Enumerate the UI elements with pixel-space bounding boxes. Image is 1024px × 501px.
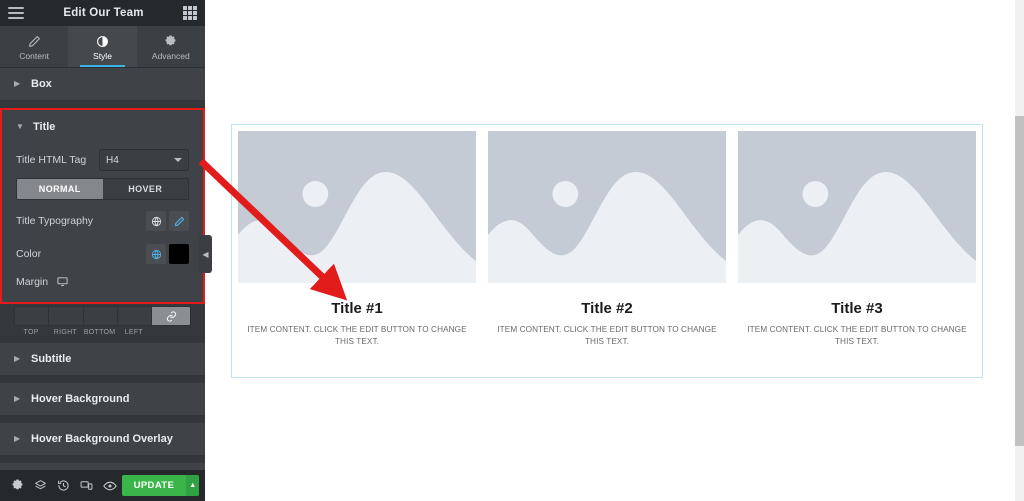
contrast-icon — [95, 34, 109, 48]
card-title: Title #1 — [238, 300, 476, 317]
tab-advanced[interactable]: Advanced — [137, 26, 205, 67]
margin-field-bottom: BOTTOM — [83, 306, 117, 336]
tab-content-label: Content — [19, 51, 49, 61]
section-subtitle-label: Subtitle — [31, 353, 71, 365]
chevron-right-icon: ▶ — [14, 80, 21, 88]
update-button[interactable]: UPDATE — [122, 480, 187, 491]
apps-grid-icon[interactable] — [183, 6, 197, 20]
row-title-margin: Margin — [16, 272, 189, 294]
link-icon[interactable] — [151, 306, 191, 326]
section-title-group: ▼ Title Title HTML Tag H4 NORMAL HOVER — [0, 108, 205, 304]
section-title[interactable]: ▼ Title — [2, 110, 203, 143]
title-html-tag-select[interactable]: H4 — [99, 149, 189, 171]
card-description: ITEM CONTENT. CLICK THE EDIT BUTTON TO C… — [238, 324, 476, 348]
section-box[interactable]: ▶ Box — [0, 68, 205, 101]
title-color-swatch[interactable] — [169, 244, 189, 264]
title-html-tag-value: H4 — [106, 155, 119, 166]
responsive-mode-icon[interactable] — [75, 470, 98, 501]
state-tab-normal[interactable]: NORMAL — [17, 179, 103, 199]
hamburger-icon[interactable] — [8, 7, 24, 19]
section-box-label: Box — [31, 78, 52, 90]
title-html-tag-label: Title HTML Tag — [16, 154, 99, 166]
margin-field-right: RIGHT — [48, 306, 82, 336]
section-hover-background[interactable]: ▶ Hover Background — [0, 383, 205, 416]
row-title-html-tag: Title HTML Tag H4 — [16, 145, 189, 175]
title-margin-label: Margin — [16, 276, 189, 290]
settings-gear-icon[interactable] — [6, 470, 29, 501]
spacer — [0, 101, 205, 108]
typography-controls — [146, 211, 189, 231]
spacer — [0, 376, 205, 383]
placeholder-mountain-image — [738, 131, 976, 283]
desktop-icon[interactable] — [57, 276, 68, 290]
card-title: Title #3 — [738, 300, 976, 317]
section-navigation[interactable]: ▶ Navigation — [0, 463, 205, 470]
caret-up-icon[interactable]: ▲ — [186, 475, 199, 496]
tab-advanced-label: Advanced — [152, 51, 190, 61]
panel-body: ▶ Box ▼ Title Title HTML Tag H4 — [0, 68, 205, 470]
section-title-label: Title — [33, 121, 55, 133]
navigator-layers-icon[interactable] — [29, 470, 52, 501]
margin-input-left[interactable] — [117, 306, 151, 326]
card-description: ITEM CONTENT. CLICK THE EDIT BUTTON TO C… — [738, 324, 976, 348]
card-title: Title #2 — [488, 300, 726, 317]
margin-caption-bottom: BOTTOM — [83, 329, 117, 336]
team-card-1[interactable]: Title #1 ITEM CONTENT. CLICK THE EDIT BU… — [232, 125, 482, 377]
panel-header: Edit Our Team — [0, 0, 205, 26]
team-card-2[interactable]: Title #2 ITEM CONTENT. CLICK THE EDIT BU… — [482, 125, 732, 377]
chevron-right-icon: ▶ — [14, 435, 21, 443]
globe-icon[interactable] — [146, 211, 166, 231]
chevron-right-icon: ▶ — [14, 355, 21, 363]
section-hover-background-overlay-label: Hover Background Overlay — [31, 433, 173, 445]
spacer — [0, 456, 205, 463]
margin-caption-right: RIGHT — [48, 329, 82, 336]
panel-tabs: Content Style Advanced — [0, 26, 205, 68]
margin-input-top[interactable] — [14, 306, 48, 326]
title-color-label: Color — [16, 248, 146, 260]
margin-input-right[interactable] — [48, 306, 82, 326]
margin-caption-top: TOP — [14, 329, 48, 336]
history-icon[interactable] — [52, 470, 75, 501]
margin-field-top: TOP — [14, 306, 48, 336]
margin-caption-left: LEFT — [117, 329, 151, 336]
gear-icon — [164, 34, 178, 48]
title-typography-label: Title Typography — [16, 215, 146, 227]
placeholder-mountain-image — [488, 131, 726, 283]
canvas-scrollbar[interactable] — [1015, 0, 1024, 501]
margin-input-bottom[interactable] — [83, 306, 117, 326]
update-button-group: UPDATE ▲ — [122, 475, 199, 496]
margin-inputs: TOP RIGHT BOTTOM LEFT — [0, 306, 205, 336]
state-tab-hover[interactable]: HOVER — [103, 179, 189, 199]
editor-panel: Edit Our Team Content Style — [0, 0, 205, 501]
color-controls — [146, 244, 189, 264]
tab-style-label: Style — [93, 51, 112, 61]
preview-eye-icon[interactable] — [98, 470, 121, 501]
margin-field-left: LEFT — [117, 306, 151, 336]
placeholder-mountain-image — [238, 131, 476, 283]
chevron-right-icon: ▶ — [14, 395, 21, 403]
team-section[interactable]: Title #1 ITEM CONTENT. CLICK THE EDIT BU… — [231, 124, 983, 378]
row-title-color: Color — [16, 239, 189, 269]
pencil-icon — [27, 34, 41, 48]
margin-link-field — [151, 306, 191, 336]
panel-footer: UPDATE ▲ — [0, 470, 205, 501]
section-hover-background-label: Hover Background — [31, 393, 129, 405]
section-hover-background-overlay[interactable]: ▶ Hover Background Overlay — [0, 423, 205, 456]
page-title: Edit Our Team — [24, 7, 183, 19]
scrollbar-thumb[interactable] — [1015, 116, 1024, 446]
chevron-down-icon — [174, 158, 182, 162]
globe-icon[interactable] — [146, 244, 166, 264]
row-title-typography: Title Typography — [16, 206, 189, 236]
pencil-edit-icon[interactable] — [169, 211, 189, 231]
card-description: ITEM CONTENT. CLICK THE EDIT BUTTON TO C… — [488, 324, 726, 348]
tab-style[interactable]: Style — [68, 26, 136, 67]
tab-content[interactable]: Content — [0, 26, 68, 67]
spacer — [0, 336, 205, 343]
panel-collapse-handle[interactable]: ◀ — [199, 235, 212, 273]
title-controls: Title HTML Tag H4 NORMAL HOVER Title Typ… — [2, 143, 203, 302]
team-card-3[interactable]: Title #3 ITEM CONTENT. CLICK THE EDIT BU… — [732, 125, 982, 377]
elementor-editor: Edit Our Team Content Style — [0, 0, 1024, 501]
state-toggle-group: NORMAL HOVER — [16, 178, 189, 200]
preview-canvas: Title #1 ITEM CONTENT. CLICK THE EDIT BU… — [205, 0, 1024, 501]
chevron-down-icon: ▼ — [16, 123, 23, 131]
section-subtitle[interactable]: ▶ Subtitle — [0, 343, 205, 376]
spacer — [0, 416, 205, 423]
